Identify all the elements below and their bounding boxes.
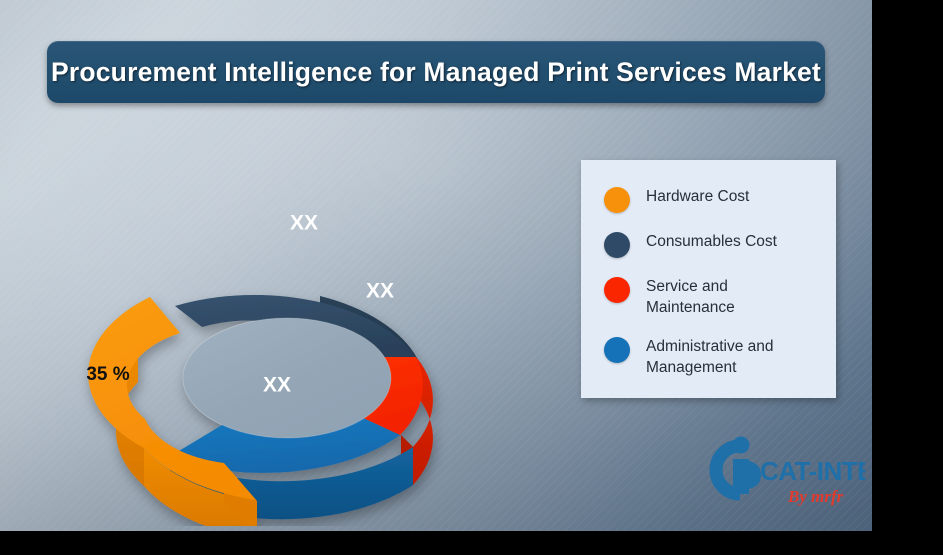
logo-byline: By mrfr xyxy=(787,487,844,506)
slice-label-administrative: XX xyxy=(263,374,291,397)
slice-label-hardware: 35 % xyxy=(86,364,129,385)
slice-label-consumables: XX xyxy=(290,212,318,235)
legend-label: Administrative and Management xyxy=(646,336,814,378)
page-title-bar: Procurement Intelligence for Managed Pri… xyxy=(47,41,825,103)
legend-item-hardware-cost[interactable]: Hardware Cost xyxy=(595,186,836,213)
legend-swatch-icon xyxy=(604,337,630,363)
slide-canvas: Procurement Intelligence for Managed Pri… xyxy=(0,0,943,555)
legend-label: Consumables Cost xyxy=(646,231,777,252)
cat-intel-logo: CAT-INTEL By mrfr xyxy=(700,432,865,510)
donut-chart: 35 % XX XX XX xyxy=(0,158,592,526)
legend-label: Hardware Cost xyxy=(646,186,749,207)
logo-wordmark: CAT-INTEL xyxy=(760,456,865,486)
slide-content: Procurement Intelligence for Managed Pri… xyxy=(0,0,872,531)
cat-intel-logo-svg: CAT-INTEL By mrfr xyxy=(700,432,865,510)
legend-label: Service and Maintenance xyxy=(646,276,814,318)
legend-swatch-icon xyxy=(604,232,630,258)
legend-swatch-icon xyxy=(604,187,630,213)
slice-label-service: XX xyxy=(366,280,394,303)
logo-person-head-icon xyxy=(733,437,750,454)
legend-item-consumables-cost[interactable]: Consumables Cost xyxy=(595,231,836,258)
page-title: Procurement Intelligence for Managed Pri… xyxy=(51,57,821,88)
legend-item-service-and-maintenance[interactable]: Service and Maintenance xyxy=(595,276,836,318)
legend-swatch-icon xyxy=(604,277,630,303)
logo-person-body-icon xyxy=(733,459,749,494)
chart-legend: Hardware Cost Consumables Cost Service a… xyxy=(581,160,836,398)
legend-item-administrative-and-management[interactable]: Administrative and Management xyxy=(595,336,836,378)
donut-chart-svg: 35 % XX XX XX xyxy=(0,158,592,526)
